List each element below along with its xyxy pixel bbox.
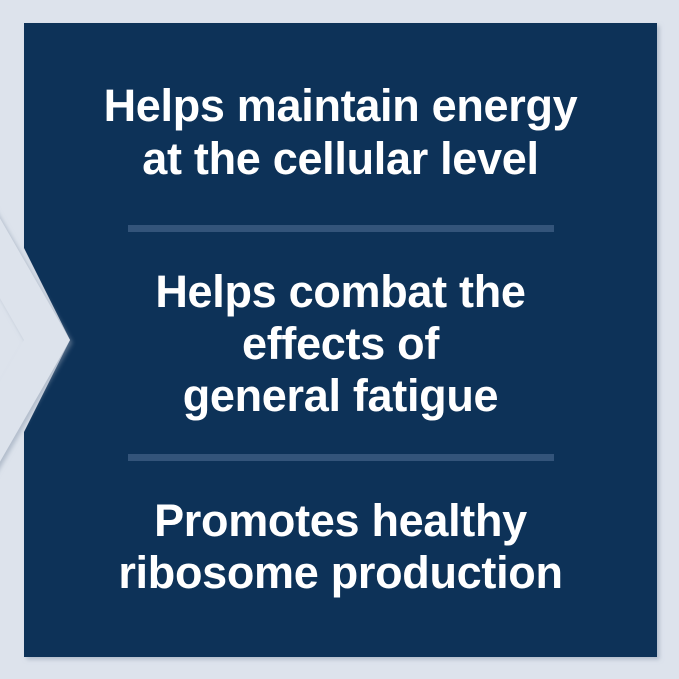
benefits-list: Helps maintain energy at the cellular le… xyxy=(24,23,657,657)
benefit-ribosome: Promotes healthy ribosome production xyxy=(50,495,631,599)
benefit-energy-line-2: at the cellular level xyxy=(50,133,631,185)
benefit-ribosome-line-1: Promotes healthy xyxy=(50,495,631,547)
benefit-fatigue-line-1: Helps combat the xyxy=(50,266,631,318)
divider-1 xyxy=(128,225,554,232)
benefit-energy-line-1: Helps maintain energy xyxy=(50,80,631,132)
benefit-ribosome-line-2: ribosome production xyxy=(50,547,631,599)
infographic-canvas: Helps maintain energy at the cellular le… xyxy=(0,0,679,679)
divider-2 xyxy=(128,454,554,461)
benefit-energy: Helps maintain energy at the cellular le… xyxy=(50,80,631,184)
benefit-fatigue-line-2: effects of xyxy=(50,318,631,370)
benefit-fatigue: Helps combat the effects of general fati… xyxy=(50,266,631,423)
benefit-fatigue-line-3: general fatigue xyxy=(50,370,631,422)
